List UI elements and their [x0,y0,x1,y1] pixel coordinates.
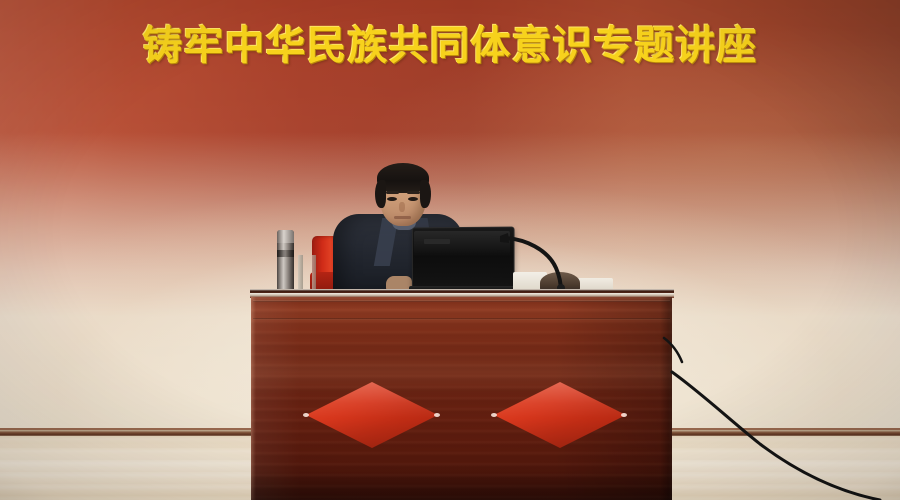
metal-stand-right [312,255,316,293]
stage-photo-scene: 铸牢中华民族共同体意识专题讲座 [0,0,900,500]
speaker-eye-right [408,197,418,201]
speaker-eyebrow-right [407,191,420,194]
podium-light-highlight [251,350,672,394]
speaker-hair-side-left [375,180,386,208]
diamond-tip-glint-right-a [491,413,497,417]
diamond-tip-glint-left-a [303,413,309,417]
laptop-lid-sheen [414,231,510,259]
podium-bottom-shadow [251,470,672,500]
podium-seam-upper [253,300,670,302]
speaker-hair-side-right [420,180,431,208]
banner-title-text: 铸牢中华民族共同体意识专题讲座 [0,24,900,68]
speaker-eyebrow-left [386,191,399,194]
thermos-flask-cap [277,230,294,243]
laptop-brand-badge [424,239,450,244]
diamond-tip-glint-left-b [434,413,440,417]
metal-stand-left [298,255,303,293]
speaker-nose [399,202,405,212]
podium-seam-lower [253,318,670,320]
speaker-eye-left [387,197,397,201]
speaker-mouth [394,216,411,219]
diamond-tip-glint-right-b [621,413,627,417]
thermos-flask-band [277,250,294,257]
